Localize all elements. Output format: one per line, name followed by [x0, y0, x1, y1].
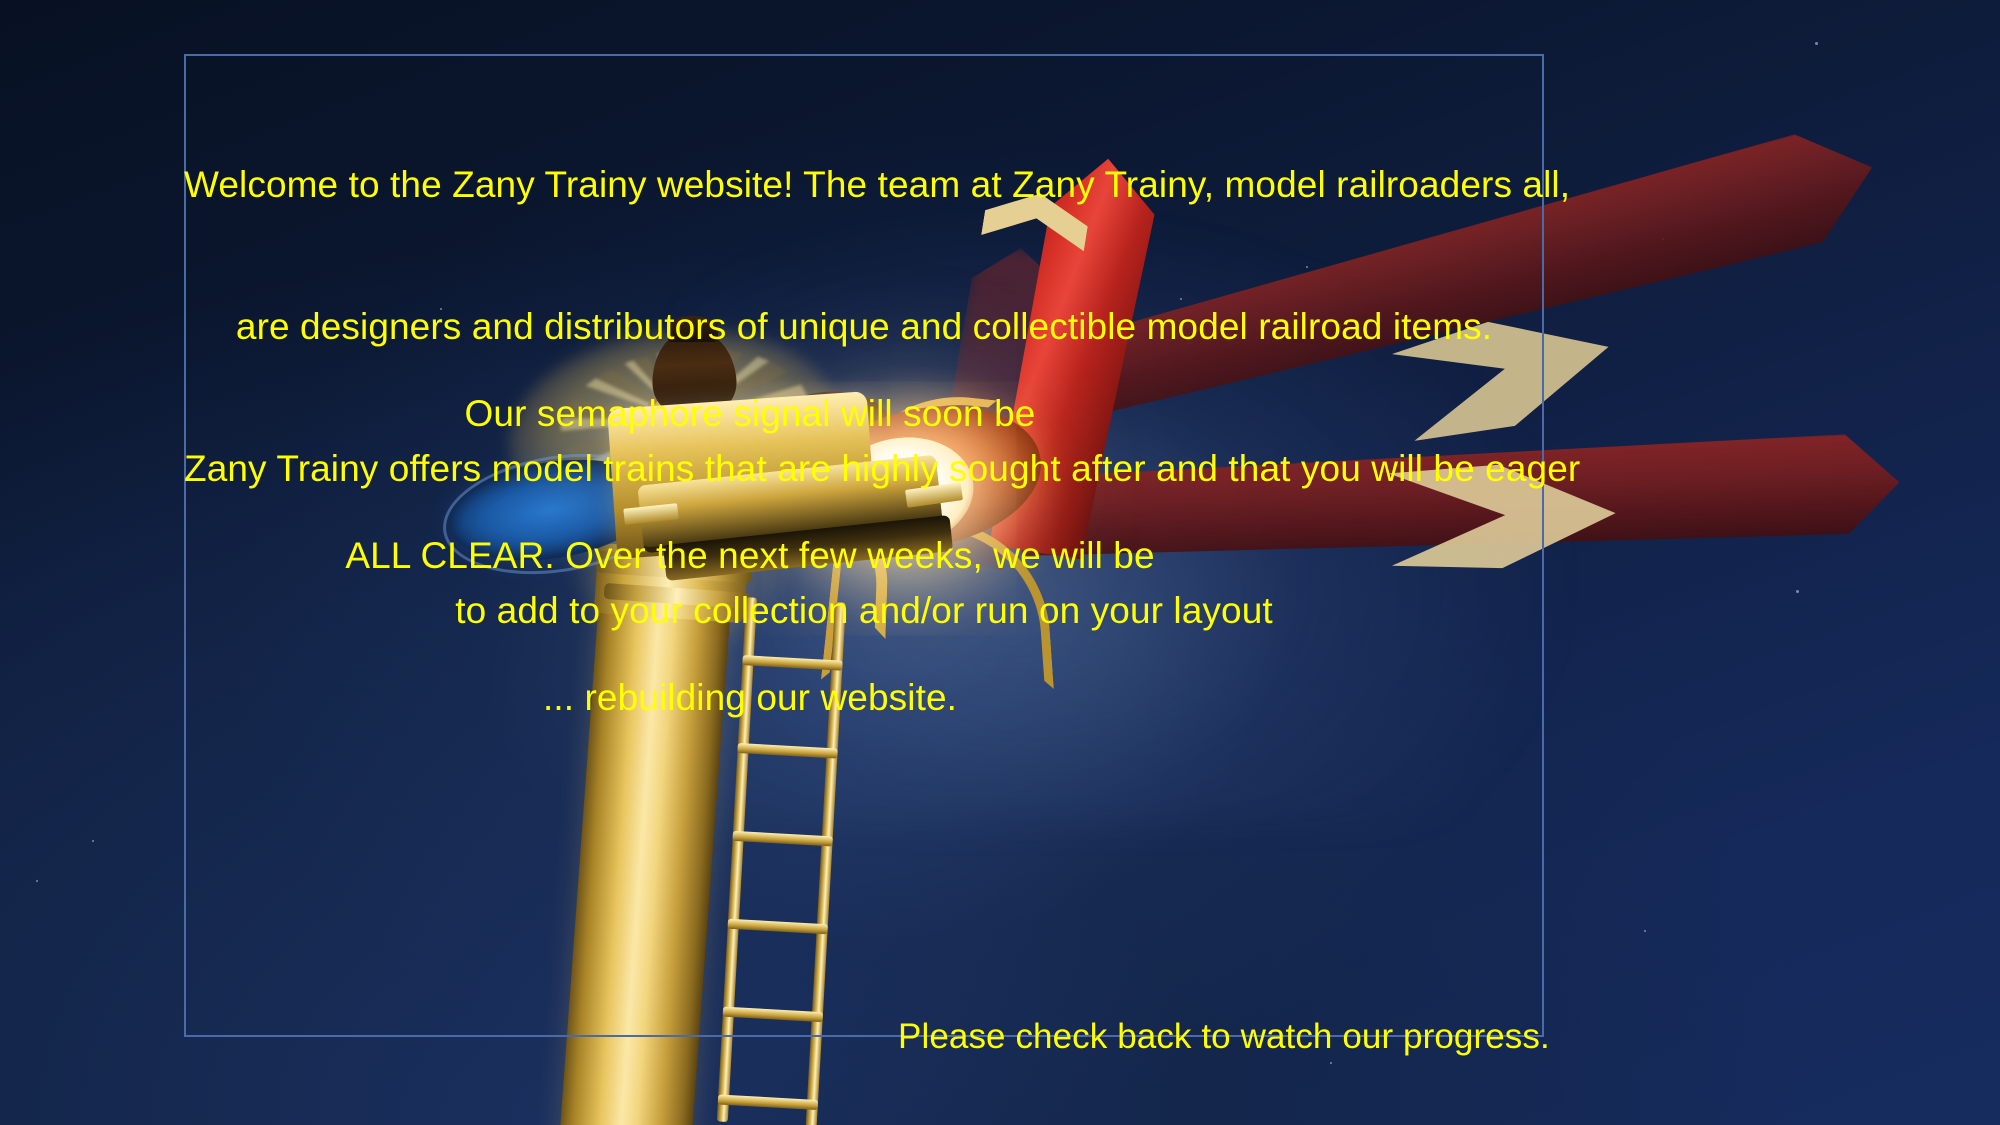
- signal-notice-line-1: Our semaphore signal will soon be: [300, 390, 1200, 437]
- ladder-rung: [732, 831, 832, 847]
- signal-notice-line-2: ALL CLEAR. Over the next few weeks, we w…: [300, 532, 1200, 579]
- ladder-rung: [723, 1007, 823, 1023]
- closing-line-1: Please check back to watch our progress.: [888, 1015, 1588, 1060]
- closing-message: Please check back to watch our progress.…: [888, 925, 1588, 1125]
- page-root: Welcome to the Zany Trainy website! The …: [0, 0, 2000, 1125]
- intro-line-1: Welcome to the Zany Trainy website! The …: [184, 161, 1544, 208]
- ladder-rung: [718, 1094, 818, 1110]
- signal-status-notice: Our semaphore signal will soon be ALL CL…: [300, 295, 1200, 816]
- signal-notice-line-3: ... rebuilding our website.: [300, 674, 1200, 721]
- ladder-rung: [728, 919, 828, 935]
